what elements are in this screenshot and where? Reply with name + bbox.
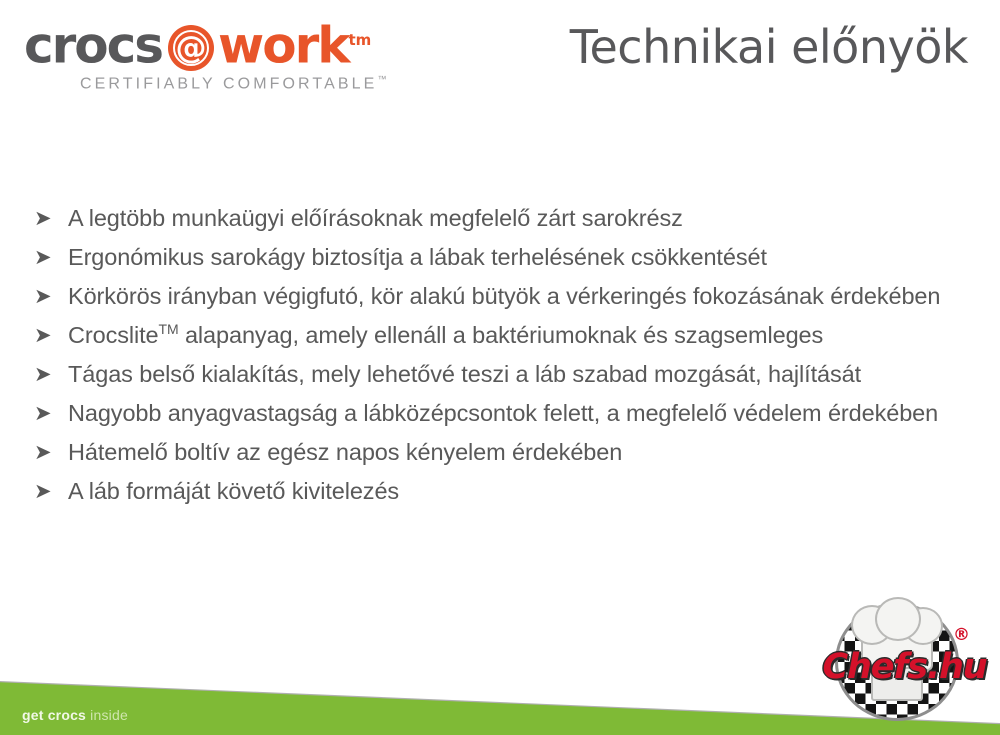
- chefs-hu-wordmark: Chefs.hu: [817, 647, 992, 687]
- list-item-text: A legtöbb munkaügyi előírásoknak megfele…: [68, 200, 946, 236]
- brand-word-crocs: crocs: [24, 17, 162, 75]
- list-item-text: Hátemelő boltív az egész napos kényelem …: [68, 434, 946, 470]
- registered-trademark-icon: ®: [953, 625, 970, 645]
- list-item: ➤ Nagyobb anyagvastagság a lábközépcsont…: [26, 395, 946, 431]
- list-item: ➤ Hátemelő boltív az egész napos kényele…: [26, 434, 946, 470]
- footer-tagline: get crocs inside: [22, 707, 128, 723]
- list-item: ➤ A legtöbb munkaügyi előírásoknak megfe…: [26, 200, 946, 236]
- list-item: ➤ A láb formáját követő kivitelezés: [26, 473, 946, 509]
- list-item-trademark: TM: [159, 321, 179, 337]
- footer-tagline-light: inside: [86, 707, 128, 723]
- bullet-arrow-icon: ➤: [26, 317, 68, 353]
- list-item-text: CrocsliteTM alapanyag, amely ellenáll a …: [68, 317, 946, 353]
- brand-tagline-tm: ™: [377, 74, 386, 84]
- list-item: ➤ Tágas belső kialakítás, mely lehetővé …: [26, 356, 946, 392]
- bullet-arrow-icon: ➤: [26, 434, 68, 470]
- list-item: ➤ CrocsliteTM alapanyag, amely ellenáll …: [26, 317, 946, 353]
- brand-trademark: tm: [349, 31, 372, 49]
- bullet-arrow-icon: ➤: [26, 278, 68, 314]
- list-item: ➤ Körkörös irányban végigfutó, kör alakú…: [26, 278, 946, 314]
- chef-hat-puff-center: [875, 597, 921, 641]
- footer-tagline-strong: get crocs: [22, 707, 86, 723]
- list-item-text-pre: Crocslite: [68, 322, 159, 348]
- crocs-at-work-logo: crocs@worktm CERTIFIABLY COMFORTABLE™: [24, 12, 424, 96]
- chefs-hu-logo: ® Chefs.hu: [817, 597, 992, 727]
- list-item-text: Ergonómikus sarokágy biztosítja a lábak …: [68, 239, 946, 275]
- bullet-arrow-icon: ➤: [26, 356, 68, 392]
- list-item-text: A láb formáját követő kivitelezés: [68, 473, 946, 509]
- page-title: Technikai előnyök: [570, 20, 968, 74]
- list-item-text: Körkörös irányban végigfutó, kör alakú b…: [68, 278, 946, 314]
- slide: crocs@worktm CERTIFIABLY COMFORTABLE™ Te…: [0, 0, 1000, 735]
- bullet-arrow-icon: ➤: [26, 395, 68, 431]
- brand-tagline-text: CERTIFIABLY COMFORTABLE: [80, 75, 377, 92]
- list-item: ➤ Ergonómikus sarokágy biztosítja a lába…: [26, 239, 946, 275]
- bullet-arrow-icon: ➤: [26, 200, 68, 236]
- brand-tagline: CERTIFIABLY COMFORTABLE™: [80, 74, 386, 93]
- list-item-text: Nagyobb anyagvastagság a lábközépcsontok…: [68, 395, 946, 431]
- brand-wordmark: crocs@worktm: [24, 12, 371, 74]
- list-item-text-post: alapanyag, amely ellenáll a baktériumokn…: [179, 322, 824, 348]
- bullet-arrow-icon: ➤: [26, 473, 68, 509]
- brand-word-work: work: [218, 17, 348, 75]
- bullet-list: ➤ A legtöbb munkaügyi előírásoknak megfe…: [26, 200, 946, 512]
- at-symbol-glyph: @: [168, 25, 214, 71]
- at-symbol-icon: @: [168, 25, 214, 71]
- bullet-arrow-icon: ➤: [26, 239, 68, 275]
- list-item-text: Tágas belső kialakítás, mely lehetővé te…: [68, 356, 946, 392]
